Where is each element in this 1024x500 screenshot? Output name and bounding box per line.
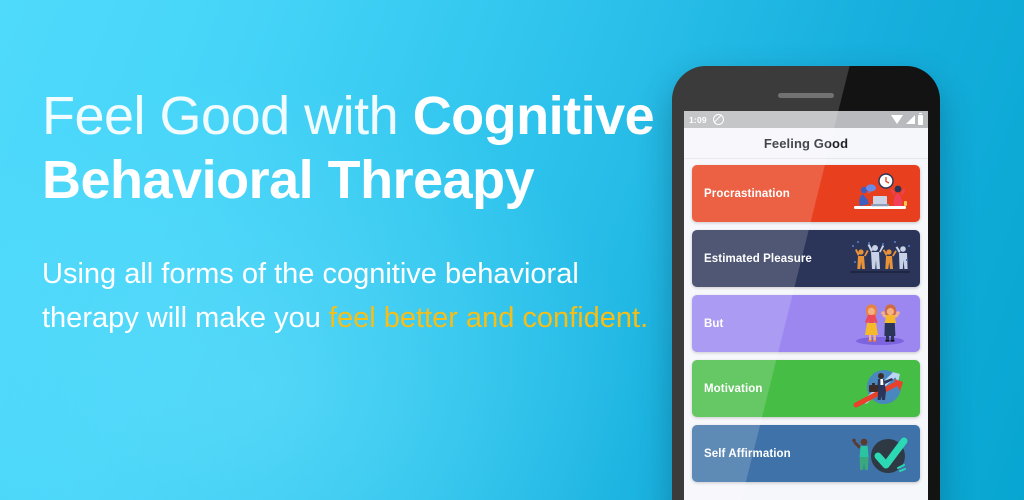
status-bar-time: 1:09: [689, 115, 707, 125]
phone-mockup: 1:09 Feeling Good Procrastination: [672, 66, 940, 500]
headline-light-part: Feel Good with: [42, 86, 413, 146]
app-bar: Feeling Good: [684, 128, 928, 159]
category-card-motivation[interactable]: Motivation: [692, 360, 920, 417]
page-title: Feel Good with Cognitive Behavioral Thre…: [42, 84, 662, 212]
promo-banner: Feel Good with Cognitive Behavioral Thre…: [0, 0, 1024, 500]
card-label: Motivation: [692, 383, 763, 395]
category-card-self-affirmation[interactable]: Self Affirmation: [692, 425, 920, 482]
do-not-disturb-icon: [713, 114, 724, 125]
category-card-estimated-pleasure[interactable]: Estimated Pleasure: [692, 230, 920, 287]
card-label: Estimated Pleasure: [692, 253, 812, 265]
status-bar-indicators: [891, 115, 923, 125]
status-bar: 1:09: [684, 111, 928, 128]
marketing-copy: Feel Good with Cognitive Behavioral Thre…: [42, 84, 662, 340]
card-label: But: [692, 318, 723, 330]
phone-screen: 1:09 Feeling Good Procrastination: [684, 111, 928, 500]
two-women-illustration: [848, 302, 912, 346]
card-label: Procrastination: [692, 188, 790, 200]
card-label: Self Affirmation: [692, 448, 791, 460]
wifi-icon: [891, 115, 903, 124]
celebrating-people-illustration: [848, 237, 912, 281]
category-card-procrastination[interactable]: Procrastination: [692, 165, 920, 222]
checkmark-person-illustration: [848, 432, 912, 476]
app-bar-title: Feeling Good: [764, 136, 848, 151]
signal-icon: [906, 115, 915, 124]
category-card-list: Procrastination: [684, 159, 928, 482]
desk-clock-illustration: [848, 172, 912, 216]
page-subtitle: Using all forms of the cognitive behavio…: [42, 212, 662, 340]
phone-speaker-grille: [778, 93, 834, 98]
businessman-arrow-illustration: [848, 367, 912, 411]
category-card-but[interactable]: But: [692, 295, 920, 352]
subline-accent-part: feel better and confident.: [329, 302, 648, 334]
battery-icon: [918, 115, 923, 125]
